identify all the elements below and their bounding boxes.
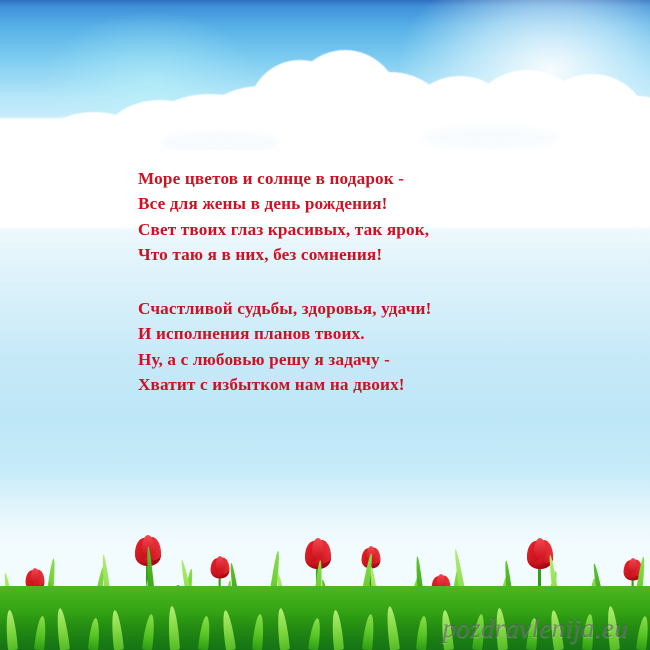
poem-line: И исполнения планов твоих.: [138, 321, 558, 346]
sky-haze-icon: [40, 10, 260, 160]
watermark: pozdravlenija.eu: [442, 613, 628, 644]
tulip-flower-icon: [211, 558, 230, 582]
poem-text: Море цветов и солнце в подарок - Все для…: [138, 166, 558, 397]
greeting-card: Море цветов и солнце в подарок - Все для…: [0, 0, 650, 650]
poem-line: Ну, а с любовью решу я задачу -: [138, 347, 558, 372]
poem-line: Что таю я в них, без сомнения!: [138, 242, 558, 267]
sun-glow-icon: [400, 0, 650, 180]
poem-line: Счастливой судьбы, здоровья, удачи!: [138, 296, 558, 321]
poem-line: Все для жены в день рождения!: [138, 191, 558, 216]
poem-line: Свет твоих глаз красивых, так ярок,: [138, 217, 558, 242]
poem-line: Море цветов и солнце в подарок -: [138, 166, 558, 191]
poem-line: Хватит с избытком нам на двоих!: [138, 372, 558, 397]
stanza-1: Море цветов и солнце в подарок - Все для…: [138, 166, 558, 267]
stanza-2: Счастливой судьбы, здоровья, удачи! И ис…: [138, 296, 558, 397]
